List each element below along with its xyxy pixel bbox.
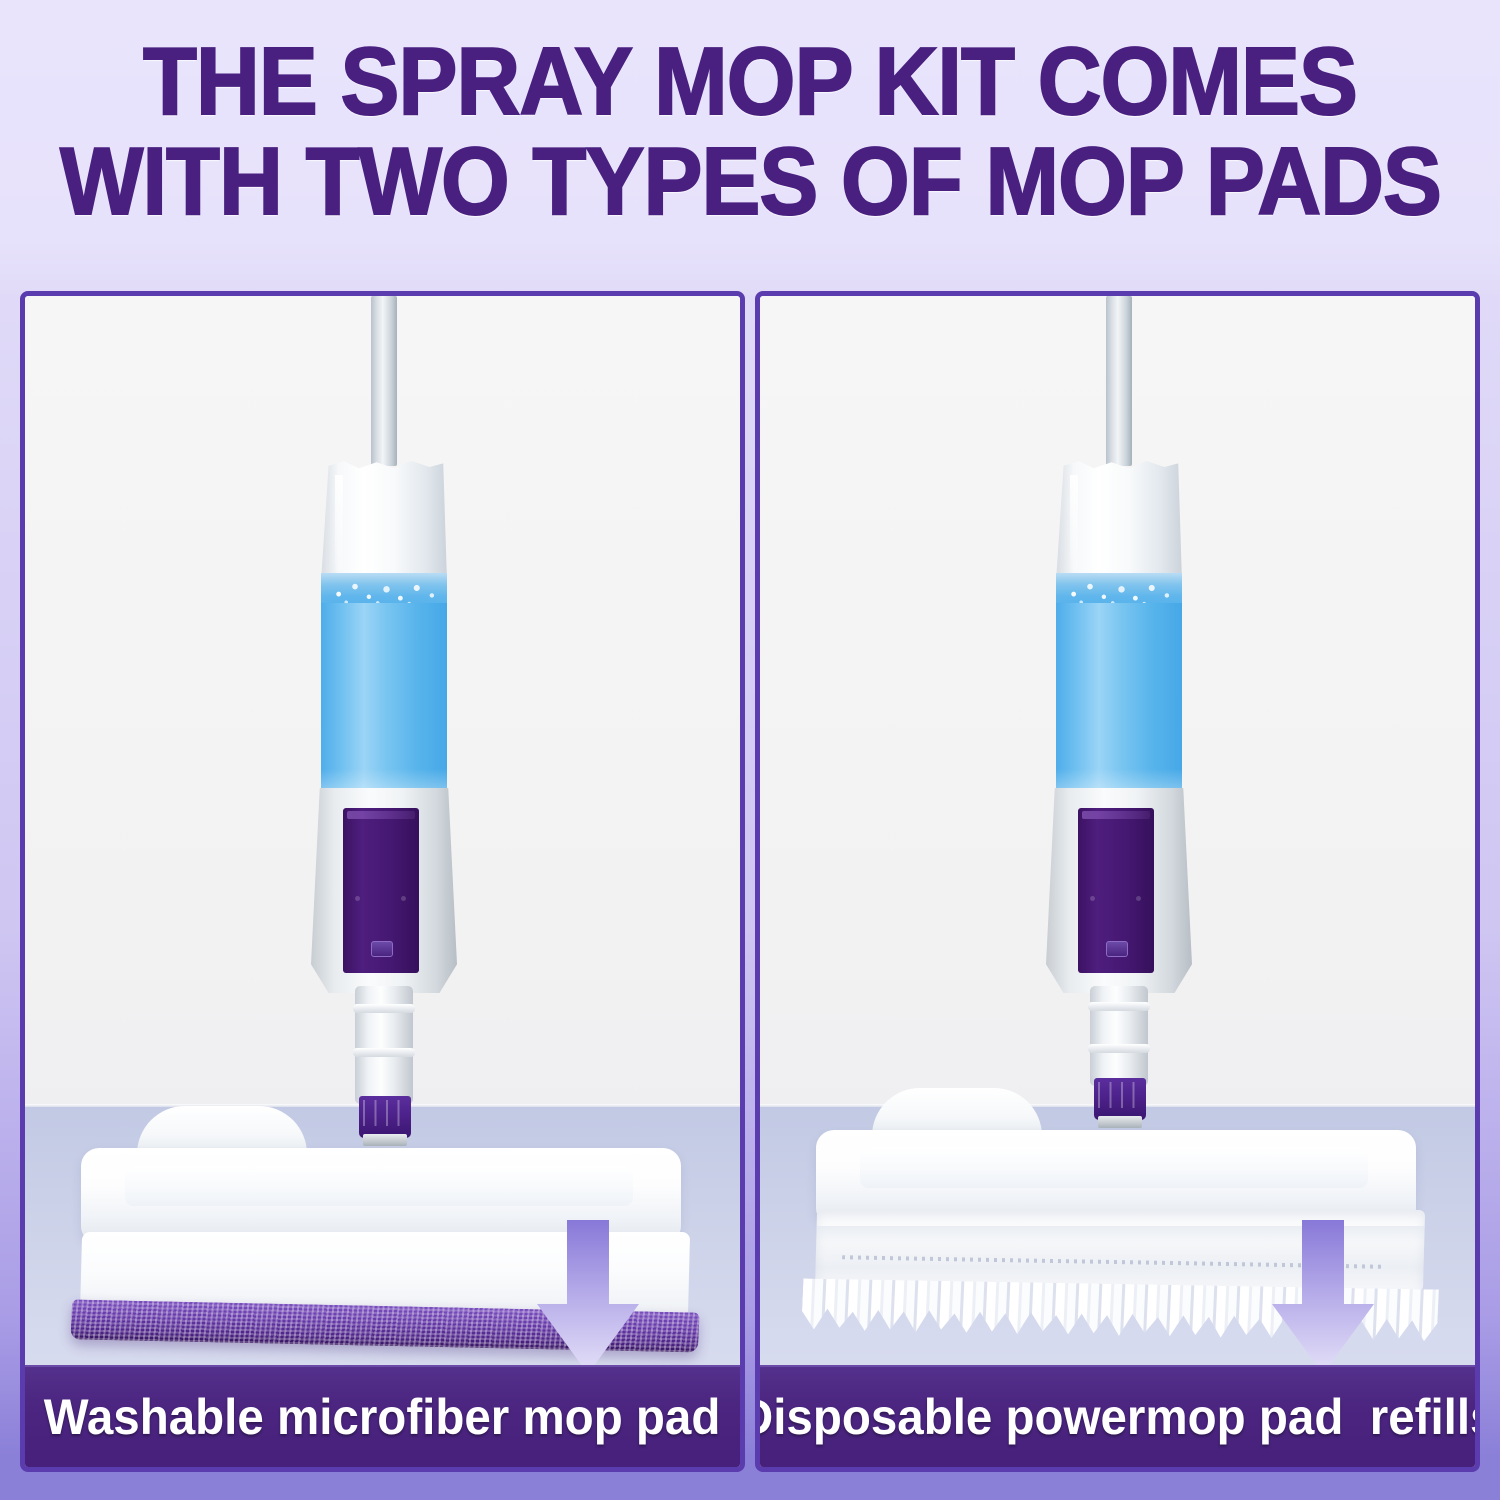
spray-trigger-button[interactable] (371, 941, 393, 957)
blue-cleaning-liquid (321, 603, 447, 793)
scene-right (760, 296, 1475, 1467)
liquid-waterline-bubbles (321, 573, 447, 607)
pivot-metal-pin (1098, 1116, 1142, 1128)
plate-dot-right (1136, 896, 1141, 901)
panel-washable-microfiber: Washable microfiber mop pad (20, 291, 745, 1472)
lower-shaft (1090, 986, 1148, 1086)
pivot-metal-pin (363, 1134, 407, 1146)
spray-bottle (321, 461, 447, 791)
bottle-neck-translucent (321, 461, 447, 581)
plate-dot-right (401, 896, 406, 901)
scene-left (25, 296, 740, 1467)
caption-label-right: Disposable powermop pad refills (755, 1388, 1480, 1446)
shaft-ring-upper (353, 1004, 415, 1013)
blue-cleaning-liquid (1056, 603, 1182, 793)
purple-pivot-clip (359, 1096, 411, 1138)
bottle-neck-translucent (1056, 461, 1182, 581)
mop-head-hump (872, 1088, 1042, 1136)
caption-bar-right: Disposable powermop pad refills (760, 1365, 1475, 1467)
shaft-ring-lower (1088, 1044, 1150, 1053)
headline-line-1: THE SPRAY MOP KIT COMES (60, 32, 1440, 132)
shaft-ring-lower (353, 1048, 415, 1057)
liquid-waterline-bubbles (1056, 573, 1182, 607)
page-title: THE SPRAY MOP KIT COMES WITH TWO TYPES O… (60, 32, 1440, 232)
arrow-down-icon (535, 1218, 641, 1378)
spray-mop-assembly (243, 296, 523, 1196)
mop-handle-pole (371, 296, 397, 466)
panel-disposable-powermop: Disposable powermop pad refills (755, 291, 1480, 1472)
purple-control-plate (343, 808, 419, 973)
plate-dot-left (1090, 896, 1095, 901)
caption-bar-left: Washable microfiber mop pad (25, 1365, 740, 1467)
spray-bottle (1056, 461, 1182, 791)
purple-control-plate (1078, 808, 1154, 973)
product-infographic: THE SPRAY MOP KIT COMES WITH TWO TYPES O… (0, 0, 1500, 1500)
mop-head-hump (137, 1106, 307, 1154)
arrow-down-icon (1270, 1218, 1376, 1378)
spray-mop-assembly (978, 296, 1258, 1196)
shaft-ring-upper (1088, 1002, 1150, 1011)
mop-handle-pole (1106, 296, 1132, 466)
purple-pivot-clip (1094, 1078, 1146, 1120)
caption-label-left: Washable microfiber mop pad (44, 1388, 721, 1446)
headline-line-2: WITH TWO TYPES OF MOP PADS (60, 132, 1440, 232)
plate-dot-left (355, 896, 360, 901)
spray-trigger-button[interactable] (1106, 941, 1128, 957)
